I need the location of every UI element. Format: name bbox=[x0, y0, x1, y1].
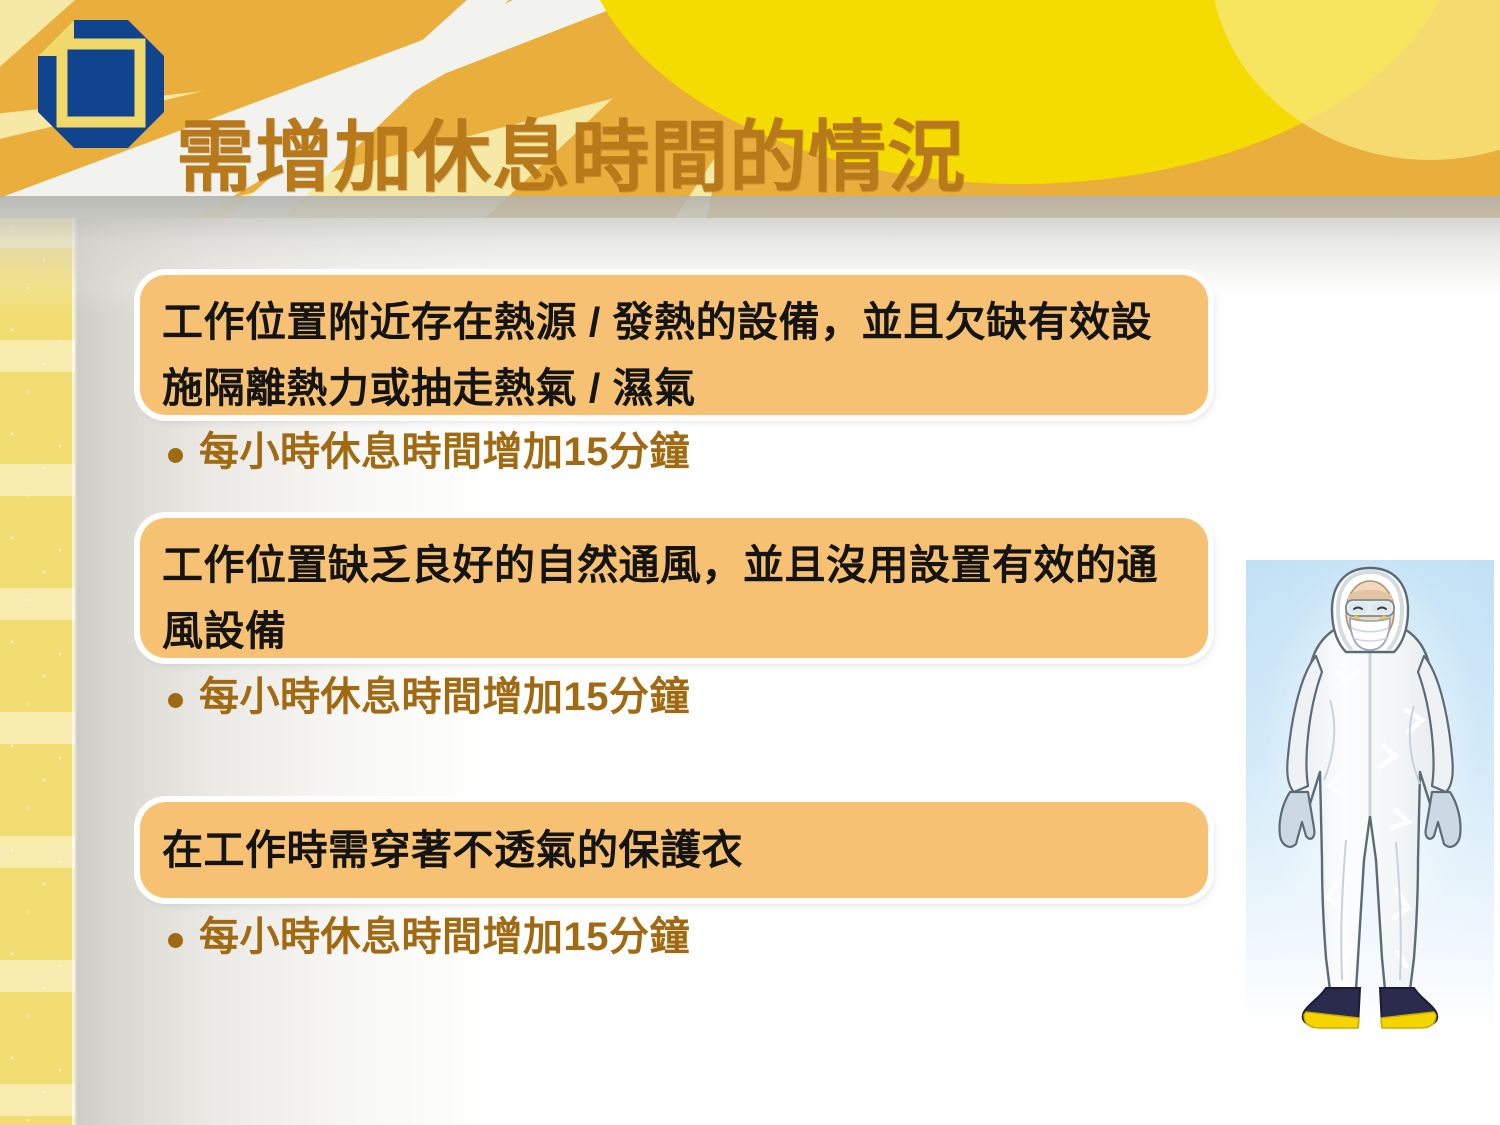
bullet-dot-icon bbox=[168, 933, 183, 948]
bullet-item-1: 每小時休息時間增加15分鐘 bbox=[168, 428, 1068, 476]
bullet-dot-icon bbox=[168, 448, 183, 463]
bullet-label-3: 每小時休息時間增加15分鐘 bbox=[199, 913, 690, 961]
bullet-item-3: 每小時休息時間增加15分鐘 bbox=[168, 913, 1068, 961]
bullet-dot-icon bbox=[168, 693, 183, 708]
bullet-item-2: 每小時休息時間增加15分鐘 bbox=[168, 673, 1068, 721]
callout-condition-2: 工作位置缺乏良好的自然通風，並且沒用設置有效的通風設備 bbox=[140, 518, 1208, 658]
callout-condition-3: 在工作時需穿著不透氣的保護衣 bbox=[140, 802, 1208, 898]
slide-root: 需增加休息時間的情況 工作位置附近存在熱源 / 發熱的設備，並且欠缺有效設施隔離… bbox=[0, 0, 1500, 1125]
bullet-label-1: 每小時休息時間增加15分鐘 bbox=[199, 428, 690, 476]
bullet-label-2: 每小時休息時間增加15分鐘 bbox=[199, 673, 690, 721]
protective-coverall-figure bbox=[1246, 560, 1494, 1060]
callout-condition-1: 工作位置附近存在熱源 / 發熱的設備，並且欠缺有效設施隔離熱力或抽走熱氣 / 濕… bbox=[140, 275, 1208, 415]
